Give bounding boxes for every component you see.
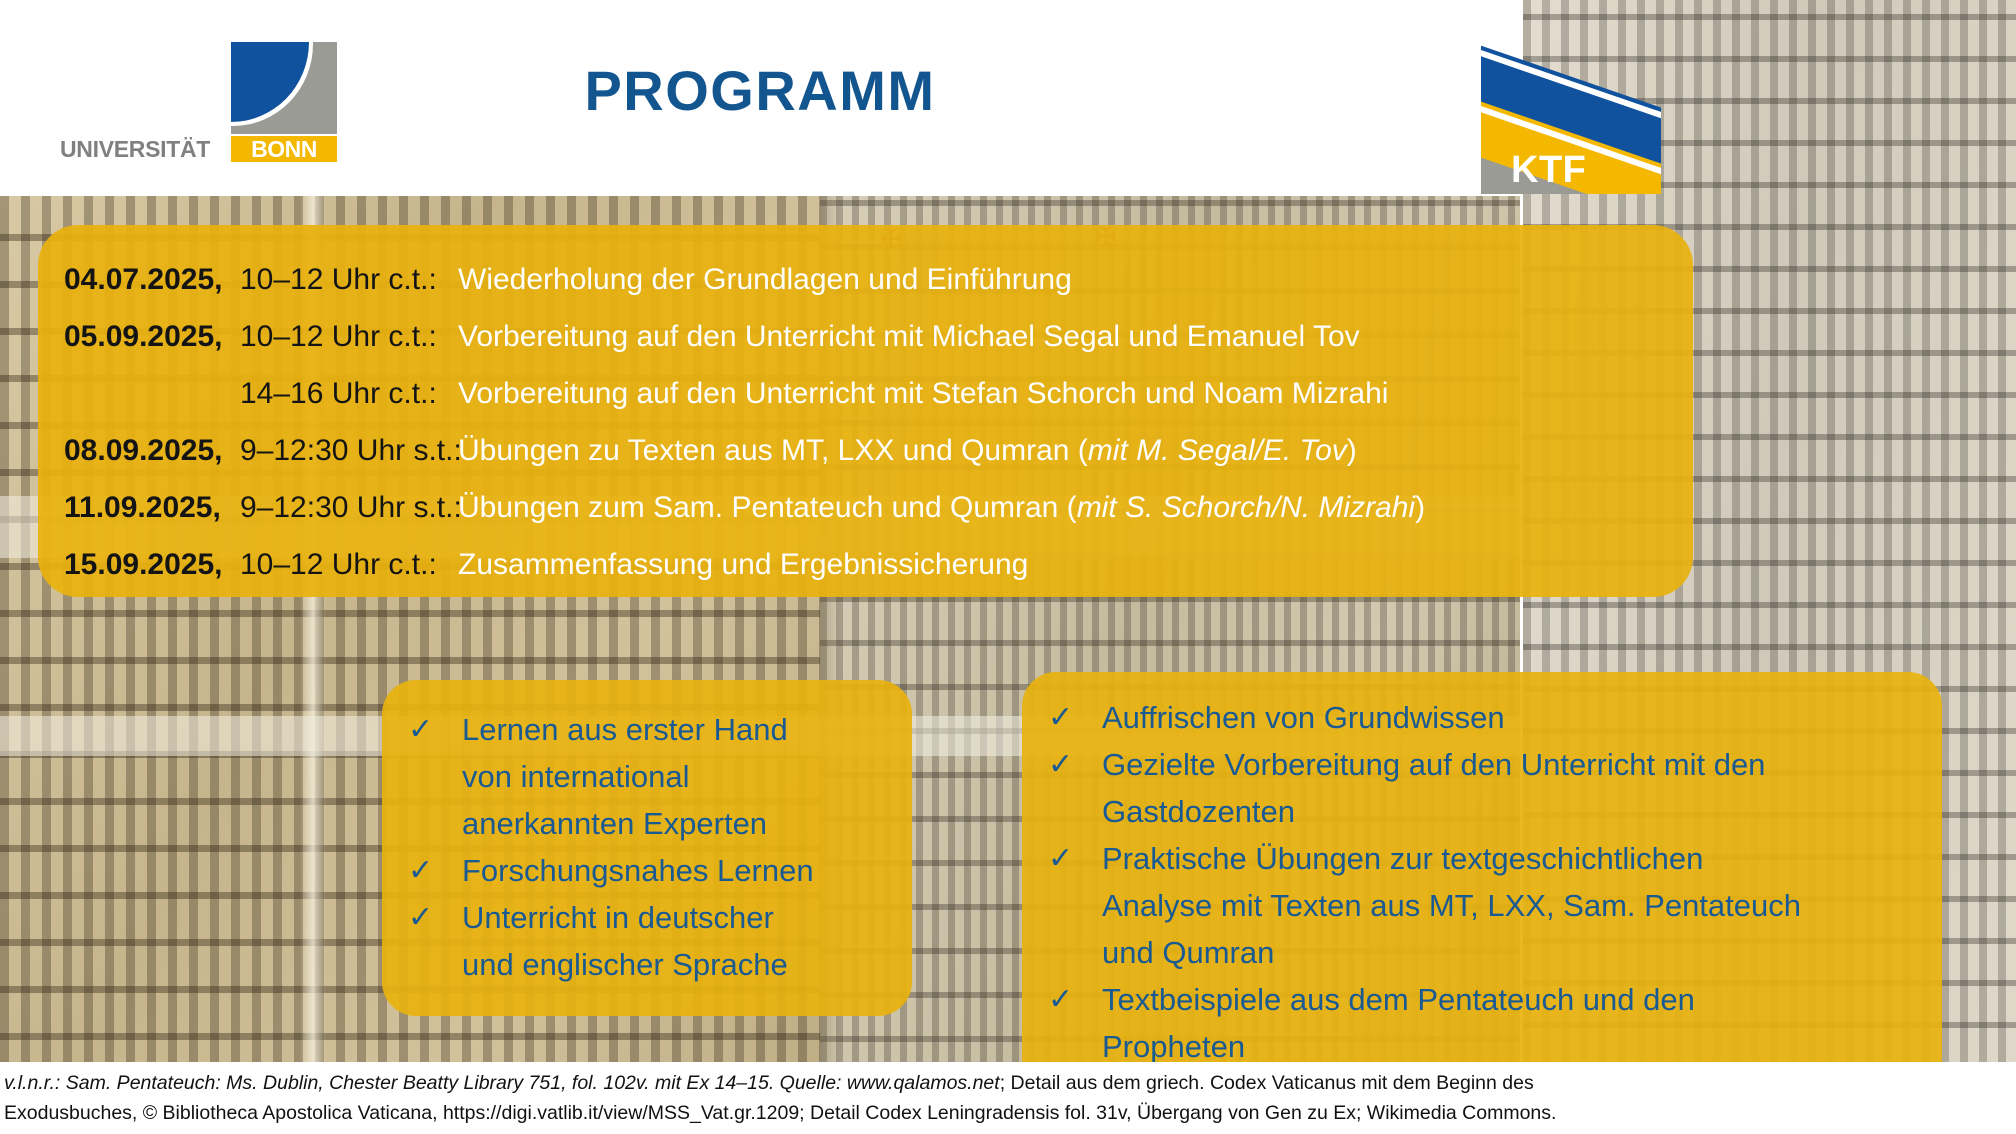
credits-line-1: v.l.n.r.: Sam. Pentateuch: Ms. Dublin, C… [4, 1068, 2012, 1098]
ktf-label: KTF [1511, 149, 1586, 192]
checkmark-icon: ✓ [408, 847, 462, 894]
program-row-time: 9–12:30 Uhr s.t.: [240, 422, 458, 479]
benefit-left-item-label: Lernen aus erster Hand [462, 706, 888, 753]
benefits-card-right: ✓Auffrischen von Grundwissen✓Gezielte Vo… [1022, 672, 1942, 1092]
program-row-list: 04.07.2025,10–12 Uhr c.t.:Wiederholung d… [64, 251, 1667, 593]
credits-line-2-text: Exodusbuches, © Bibliotheca Apostolica V… [4, 1102, 1556, 1124]
benefit-left-item-label: Forschungsnahes Lernen [462, 847, 888, 894]
program-row-description: Vorbereitung auf den Unterricht mit Stef… [458, 365, 1388, 422]
benefit-right-item: ✓Gastdozenten [1048, 788, 1918, 835]
program-row-instructors: mit M. Segal/E. Tov [1088, 434, 1347, 467]
program-row-description: Wiederholung der Grundlagen und Einführu… [458, 251, 1072, 308]
program-row-description: Übungen zu Texten aus MT, LXX und Qumran… [458, 422, 1357, 479]
benefit-right-item-label: Praktische Übungen zur textgeschichtlich… [1102, 835, 1918, 882]
benefit-left-item: ✓Unterricht in deutscher [408, 894, 888, 941]
benefit-right-item-label: Textbeispiele aus dem Pentateuch und den [1102, 976, 1918, 1023]
program-row-instructors: mit S. Schorch/N. Mizrahi [1077, 491, 1415, 524]
benefits-right-list: ✓Auffrischen von Grundwissen✓Gezielte Vo… [1048, 694, 1918, 1070]
program-row-time: 10–12 Uhr c.t.: [240, 536, 458, 593]
credits-line-1-italic: v.l.n.r.: Sam. Pentateuch: Ms. Dublin, C… [4, 1072, 1000, 1094]
credits-line-1-roman: ; Detail aus dem griech. Codex Vaticanus… [1000, 1072, 1534, 1094]
benefit-right-item-label: Auffrischen von Grundwissen [1102, 694, 1918, 741]
benefit-right-item: ✓und Qumran [1048, 929, 1918, 976]
program-row: 05.09.2025,10–12 Uhr c.t.:Vorbereitung a… [64, 308, 1667, 365]
page-title: PROGRAMM [0, 58, 1520, 123]
benefit-left-item-label: Unterricht in deutscher [462, 894, 888, 941]
program-row: 15.09.2025,10–12 Uhr c.t.:Zusammenfassun… [64, 536, 1667, 593]
program-row: 14–16 Uhr c.t.:Vorbereitung auf den Unte… [64, 365, 1667, 422]
benefit-right-item-label: Analyse mit Texten aus MT, LXX, Sam. Pen… [1102, 882, 1918, 929]
benefit-left-item-label: anerkannten Experten [462, 800, 888, 847]
benefit-left-item: ✓Forschungsnahes Lernen [408, 847, 888, 894]
benefit-right-item-label: Gastdozenten [1102, 788, 1918, 835]
checkmark-icon: ✓ [1048, 694, 1102, 741]
checkmark-icon: ✓ [1048, 741, 1102, 788]
benefit-right-item: ✓Textbeispiele aus dem Pentateuch und de… [1048, 976, 1918, 1023]
benefits-left-list: ✓Lernen aus erster Hand✓von internationa… [408, 706, 888, 988]
program-row-description: Zusammenfassung und Ergebnissicherung [458, 536, 1028, 593]
benefit-left-item-label: und englischer Sprache [462, 941, 888, 988]
benefits-card-left: ✓Lernen aus erster Hand✓von internationa… [382, 680, 912, 1016]
city-word: BONN [231, 136, 337, 162]
checkmark-icon: ✓ [1048, 976, 1102, 1023]
checkmark-icon: ✓ [408, 706, 462, 753]
benefit-right-item-label: Gezielte Vorbereitung auf den Unterricht… [1102, 741, 1918, 788]
program-row: 11.09.2025,9–12:30 Uhr s.t.:Übungen zum … [64, 479, 1667, 536]
program-row-date: 15.09.2025, [64, 536, 240, 593]
program-row: 08.09.2025,9–12:30 Uhr s.t.:Übungen zu T… [64, 422, 1667, 479]
program-row-time: 9–12:30 Uhr s.t.: [240, 479, 458, 536]
university-word: UNIVERSITÄT [60, 136, 216, 162]
benefit-left-item-label: von international [462, 753, 888, 800]
program-row-time: 14–16 Uhr c.t.: [240, 365, 458, 422]
benefit-left-item: ✓und englischer Sprache [408, 941, 888, 988]
program-row-description: Übungen zum Sam. Pentateuch und Qumran (… [458, 479, 1425, 536]
program-row-date: 04.07.2025, [64, 251, 240, 308]
program-row-description: Vorbereitung auf den Unterricht mit Mich… [458, 308, 1360, 365]
benefit-right-item: ✓Analyse mit Texten aus MT, LXX, Sam. Pe… [1048, 882, 1918, 929]
program-row-time: 10–12 Uhr c.t.: [240, 251, 458, 308]
checkmark-icon: ✓ [1048, 835, 1102, 882]
benefit-right-item: ✓Praktische Übungen zur textgeschichtlic… [1048, 835, 1918, 882]
benefit-right-item: ✓Auffrischen von Grundwissen [1048, 694, 1918, 741]
benefit-left-item: ✓anerkannten Experten [408, 800, 888, 847]
program-row-date: 08.09.2025, [64, 422, 240, 479]
ktf-faculty-logo: KTF [1481, 38, 1661, 194]
program-row-time: 10–12 Uhr c.t.: [240, 308, 458, 365]
benefit-right-item-label: und Qumran [1102, 929, 1918, 976]
image-credits-footer: v.l.n.r.: Sam. Pentateuch: Ms. Dublin, C… [0, 1062, 2016, 1134]
benefit-left-item: ✓von international [408, 753, 888, 800]
credits-line-2: Exodusbuches, © Bibliotheca Apostolica V… [4, 1098, 2012, 1128]
program-row: 04.07.2025,10–12 Uhr c.t.:Wiederholung d… [64, 251, 1667, 308]
program-row-date: 05.09.2025, [64, 308, 240, 365]
program-schedule-panel: 04.07.2025,10–12 Uhr c.t.:Wiederholung d… [38, 225, 1693, 597]
slide-root: ✠ ✠ UNIVERSITÄT BONN PROGRAMM KTF 04.07.… [0, 0, 2016, 1134]
benefit-left-item: ✓Lernen aus erster Hand [408, 706, 888, 753]
benefit-right-item: ✓Gezielte Vorbereitung auf den Unterrich… [1048, 741, 1918, 788]
checkmark-icon: ✓ [408, 894, 462, 941]
program-row-date: 11.09.2025, [64, 479, 240, 536]
